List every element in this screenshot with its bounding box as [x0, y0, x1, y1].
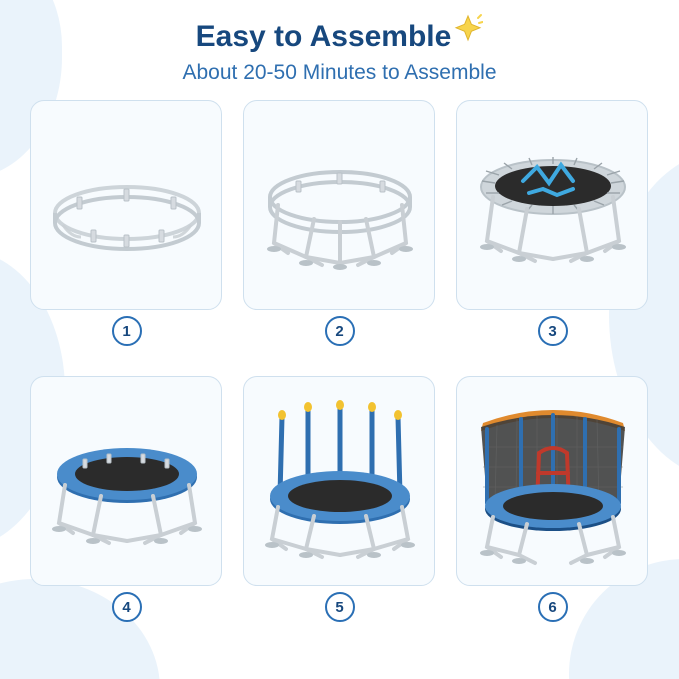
- step-card-5: [243, 376, 435, 586]
- step-badge-4: 4: [112, 592, 142, 622]
- step-card-3: [456, 100, 648, 310]
- step-card-6: [456, 376, 648, 586]
- step-badge-5: 5: [325, 592, 355, 622]
- steps-grid: 1: [30, 100, 650, 648]
- page-header: Easy to Assemble About 20-50 Minutes to …: [0, 0, 679, 88]
- step-cell-4: 4: [30, 376, 224, 648]
- step-cell-5: 5: [243, 376, 437, 648]
- step-cell-2: 2: [243, 100, 437, 372]
- step-badge-2: 2: [325, 316, 355, 346]
- step-illustration-legs-attached: [244, 101, 435, 310]
- step-badge-1: 1: [112, 316, 142, 346]
- step-illustration-frame-ring: [31, 101, 222, 310]
- step-illustration-net-and-ladder: [457, 377, 648, 586]
- step-cell-6: 6: [456, 376, 650, 648]
- step-card-2: [243, 100, 435, 310]
- page-title: Easy to Assemble: [196, 16, 484, 56]
- step-illustration-jump-mat-springs: [457, 101, 648, 310]
- page-title-text: Easy to Assemble: [196, 20, 452, 53]
- step-badge-6: 6: [538, 592, 568, 622]
- step-cell-1: 1: [30, 100, 224, 372]
- step-cell-3: 3: [456, 100, 650, 372]
- step-card-1: [30, 100, 222, 310]
- step-card-4: [30, 376, 222, 586]
- page-subtitle: About 20-50 Minutes to Assemble: [0, 58, 679, 88]
- sparkle-star-icon: [453, 13, 483, 53]
- step-illustration-enclosure-poles: [244, 377, 435, 586]
- step-illustration-safety-pad: [31, 377, 222, 586]
- step-badge-3: 3: [538, 316, 568, 346]
- assembly-instruction-page: Easy to Assemble About 20-50 Minutes to …: [0, 0, 679, 679]
